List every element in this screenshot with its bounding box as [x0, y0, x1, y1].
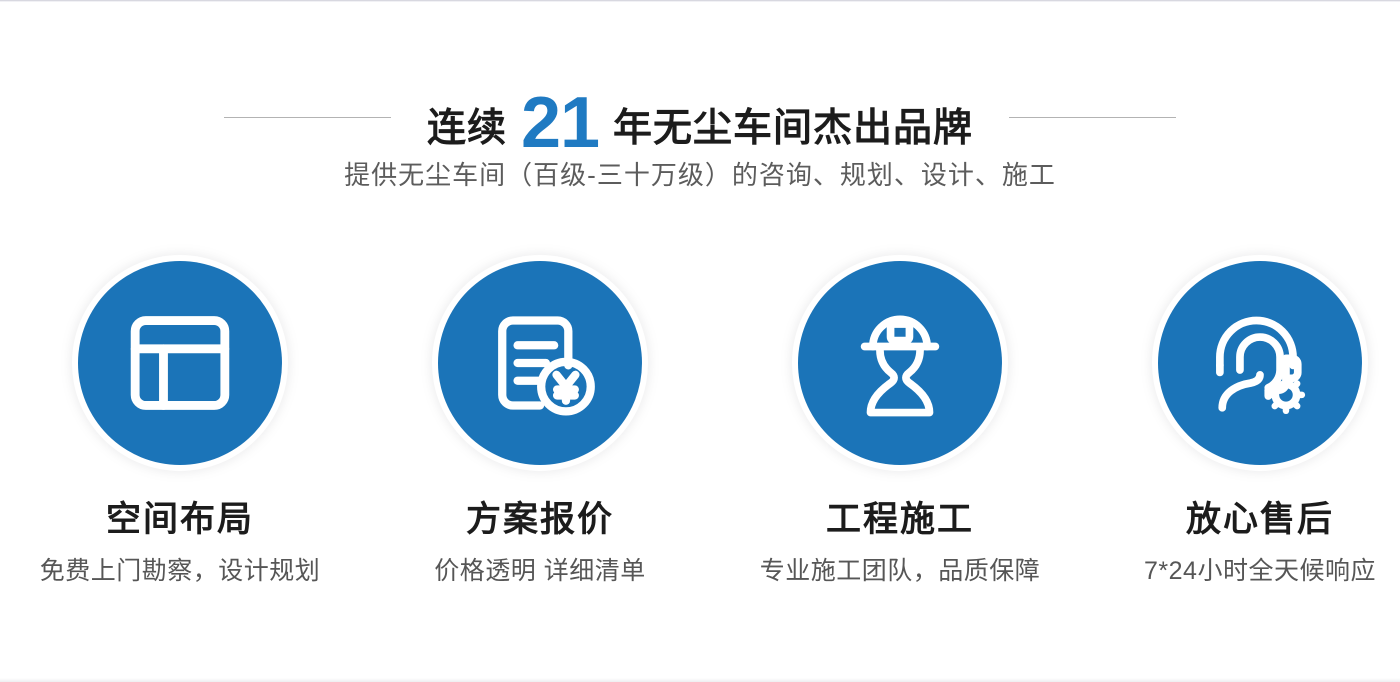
feature-icon-circle	[438, 261, 642, 465]
feature-item-space-layout[interactable]: 空间布局 免费上门勘察，设计规划	[5, 255, 355, 615]
bottom-edge-divider	[0, 678, 1400, 682]
banner-subtitle: 提供无尘车间（百级-三十万级）的咨询、规划、设计、施工	[0, 160, 1400, 191]
feature-item-quotation[interactable]: 方案报价 价格透明 详细清单	[365, 255, 715, 615]
feature-title: 方案报价	[365, 501, 715, 540]
feature-item-construction[interactable]: 工程施工 专业施工团队，品质保障	[725, 255, 1075, 615]
feature-icon-ring	[1152, 255, 1368, 471]
feature-description: 专业施工团队，品质保障	[725, 558, 1075, 586]
layout-grid-icon	[121, 304, 239, 422]
feature-icon-ring	[72, 255, 288, 471]
feature-title: 放心售后	[1085, 501, 1400, 540]
feature-icon-ring	[432, 255, 648, 471]
construction-worker-icon	[841, 304, 959, 422]
headline-rule-right	[1009, 117, 1176, 118]
banner-header: 连续 21 年无尘车间杰出品牌 提供无尘车间（百级-三十万级）的咨询、规划、设计…	[0, 0, 1400, 230]
page-title: 连续 21 年无尘车间杰出品牌	[427, 81, 973, 153]
headline-rule-left	[224, 117, 391, 118]
invoice-yuan-icon	[481, 304, 599, 422]
feature-icon-circle	[1158, 261, 1362, 465]
feature-icon-circle	[798, 261, 1002, 465]
feature-icon-circle	[78, 261, 282, 465]
headline-row: 连续 21 年无尘车间杰出品牌	[0, 86, 1400, 148]
feature-description: 7*24小时全天候响应	[1085, 558, 1400, 586]
headline-suffix: 年无尘车间杰出品牌	[613, 109, 973, 148]
feature-title: 工程施工	[725, 501, 1075, 540]
headset-support-gear-icon	[1201, 304, 1319, 422]
feature-list: 空间布局 免费上门勘察，设计规划	[0, 255, 1400, 615]
headline-prefix: 连续	[427, 109, 507, 148]
feature-item-after-sales[interactable]: 放心售后 7*24小时全天候响应	[1085, 255, 1400, 615]
feature-description: 价格透明 详细清单	[365, 558, 715, 586]
feature-icon-ring	[792, 255, 1008, 471]
feature-title: 空间布局	[5, 501, 355, 540]
headline-years-number: 21	[521, 87, 599, 159]
feature-description: 免费上门勘察，设计规划	[5, 558, 355, 586]
